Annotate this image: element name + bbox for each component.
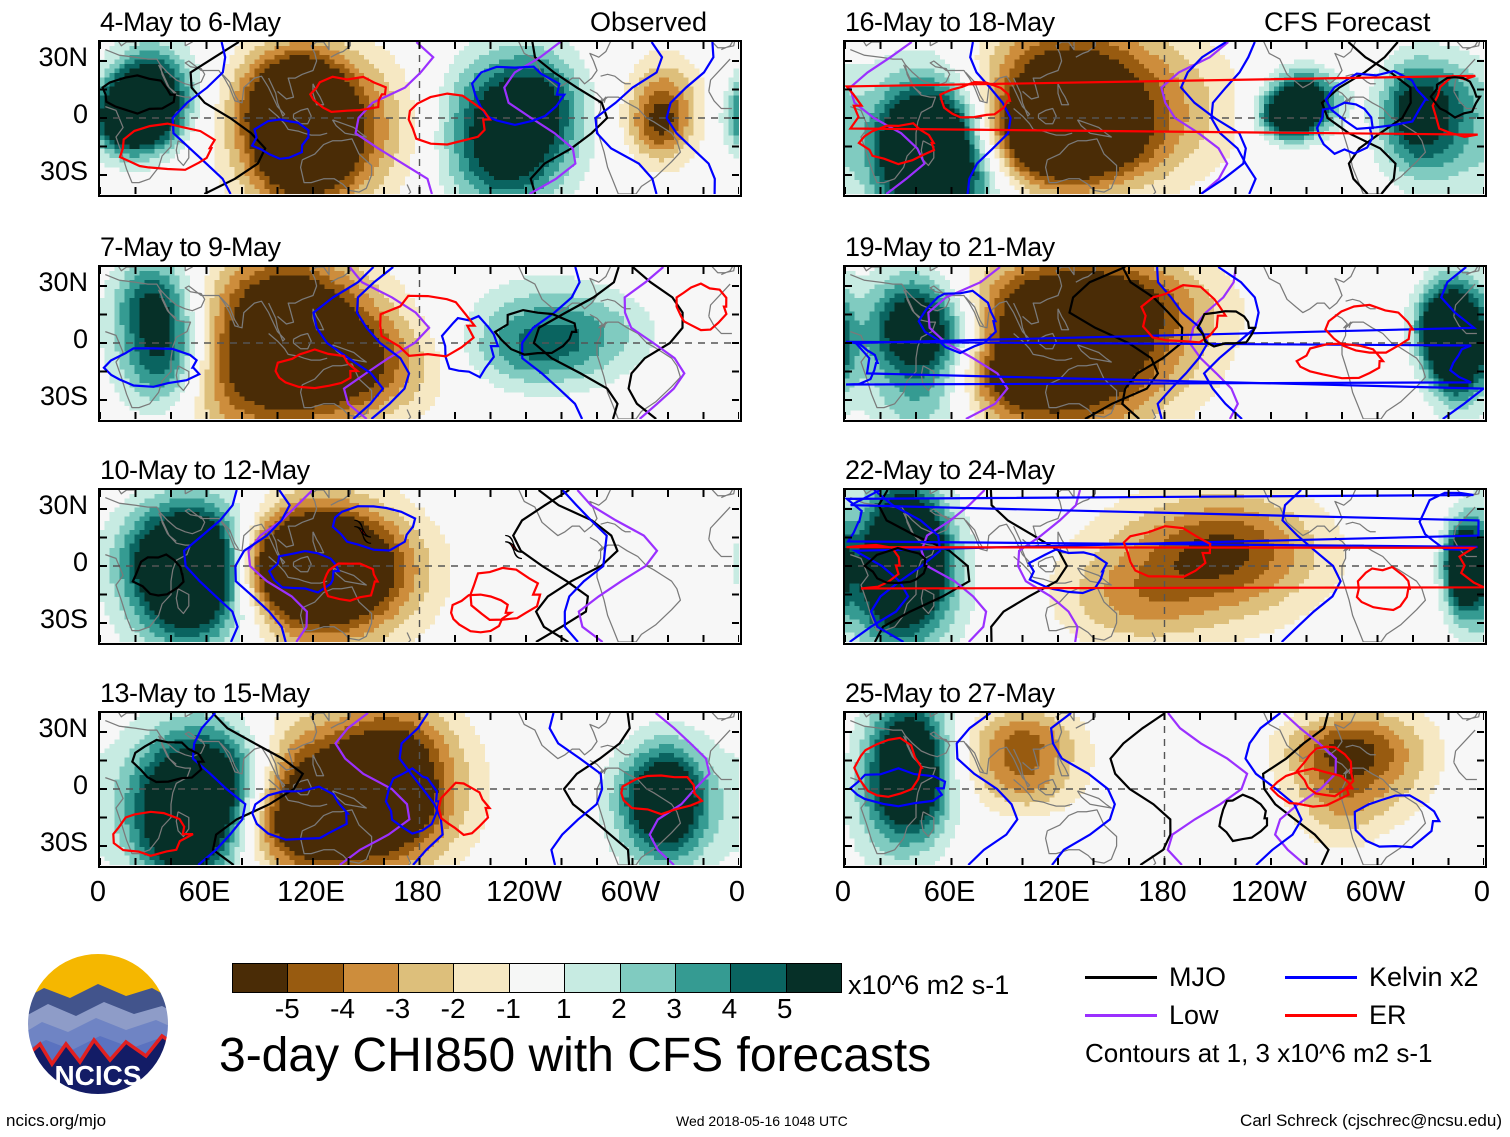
y-tick-label: 0 [0, 772, 88, 799]
x-tick-label: 120E [1011, 878, 1101, 907]
footer-url[interactable]: ncics.org/mjo [6, 1112, 106, 1129]
er-line-icon [1285, 1014, 1357, 1017]
y-tick-label: 30S [0, 606, 88, 633]
panel-title-obs-3: 10-May to 12-May [100, 457, 310, 484]
panel-title-fcst-2: 19-May to 21-May [845, 234, 1055, 261]
colorbar-tick-label: -3 [376, 995, 420, 1023]
x-tick-label: 0 [53, 878, 143, 907]
y-tick-label: 30N [0, 44, 88, 71]
x-tick-label: 180 [373, 878, 463, 907]
x-tick-label: 60E [905, 878, 995, 907]
legend-label-kelvin: Kelvin x2 [1369, 964, 1479, 991]
kelvin-line-icon [1285, 976, 1357, 979]
contour-interval-note: Contours at 1, 3 x10^6 m2 s-1 [1085, 1040, 1432, 1066]
map-panel-fcst-4[interactable] [843, 711, 1487, 868]
panel-title-obs-1: 4-May to 6-May [100, 9, 281, 36]
y-tick-label: 30S [0, 829, 88, 856]
x-tick-label: 180 [1118, 878, 1208, 907]
legend-item-mjo: MJO [1085, 964, 1285, 991]
colorbar-bin [454, 964, 509, 992]
map-panel-fcst-2[interactable] [843, 265, 1487, 422]
panel-title-obs-4: 13-May to 15-May [100, 680, 310, 707]
colorbar-bin [676, 964, 731, 992]
panel-title-fcst-4: 25-May to 27-May [845, 680, 1055, 707]
panel-title-fcst-1: 16-May to 18-May [845, 9, 1055, 36]
colorbar-tick-label: -4 [321, 995, 365, 1023]
colorbar-tick-label: 3 [652, 995, 696, 1023]
map-panel-obs-4[interactable] [98, 711, 742, 868]
footer-timestamp: Wed 2018-05-16 1048 UTC [676, 1114, 848, 1128]
y-tick-label: 30N [0, 269, 88, 296]
colorbar-bin [510, 964, 565, 992]
colorbar-bin [731, 964, 786, 992]
colorbar-tick-label: -2 [431, 995, 475, 1023]
legend-item-er: ER [1285, 1002, 1485, 1029]
y-tick-label: 30N [0, 492, 88, 519]
colorbar-strip [232, 963, 842, 993]
colorbar-bin [621, 964, 676, 992]
legend-label-er: ER [1369, 1002, 1407, 1029]
y-tick-label: 0 [0, 326, 88, 353]
ncics-logo: NCICS [22, 948, 174, 1100]
x-tick-label: 60E [160, 878, 250, 907]
colorbar-bin [288, 964, 343, 992]
colorbar-tick-label: -5 [265, 995, 309, 1023]
logo-text: NCICS [54, 1060, 141, 1091]
y-tick-label: 30N [0, 715, 88, 742]
panel-corner-label-obs-1: Observed [590, 9, 707, 36]
x-tick-label: 120W [1224, 878, 1314, 907]
contour-legend: MJO Kelvin x2 Low ER [1085, 958, 1505, 1034]
panel-title-obs-2: 7-May to 9-May [100, 234, 281, 261]
colorbar-tick-label: 1 [542, 995, 586, 1023]
map-panel-obs-2[interactable] [98, 265, 742, 422]
x-tick-label: 60W [1331, 878, 1421, 907]
map-panel-obs-1[interactable] [98, 40, 742, 197]
y-tick-label: 0 [0, 101, 88, 128]
legend-item-kelvin: Kelvin x2 [1285, 964, 1485, 991]
x-tick-label: 0 [798, 878, 888, 907]
map-panel-fcst-1[interactable] [843, 40, 1487, 197]
y-tick-label: 30S [0, 383, 88, 410]
legend-row: MJO Kelvin x2 [1085, 958, 1505, 996]
colorbar-units-label: x10^6 m2 s-1 [848, 972, 1009, 999]
footer-author: Carl Schreck (cjschrec@ncsu.edu) [1240, 1112, 1502, 1129]
colorbar-tick-label: 4 [707, 995, 751, 1023]
legend-label-mjo: MJO [1169, 964, 1226, 991]
low-line-icon [1085, 1014, 1157, 1017]
x-tick-label: 0 [692, 878, 782, 907]
x-tick-label: 120E [266, 878, 356, 907]
panel-corner-label-fcst-1: CFS Forecast [1264, 9, 1431, 36]
y-tick-label: 30S [0, 158, 88, 185]
legend-label-low: Low [1169, 1002, 1219, 1029]
map-panel-obs-3[interactable] [98, 488, 742, 645]
x-tick-label: 0 [1437, 878, 1510, 907]
legend-item-low: Low [1085, 1002, 1285, 1029]
colorbar-tick-label: -1 [486, 995, 530, 1023]
map-panel-fcst-3[interactable] [843, 488, 1487, 645]
x-tick-label: 60W [586, 878, 676, 907]
colorbar-tick-label: 5 [763, 995, 807, 1023]
colorbar-bin [565, 964, 620, 992]
colorbar-bin [233, 964, 288, 992]
colorbar-bin [399, 964, 454, 992]
figure-title: 3-day CHI850 with CFS forecasts [219, 1032, 931, 1080]
y-tick-label: 0 [0, 549, 88, 576]
mjo-line-icon [1085, 976, 1157, 979]
colorbar-tick-label: 2 [597, 995, 641, 1023]
colorbar-bin [787, 964, 841, 992]
x-tick-label: 120W [479, 878, 569, 907]
legend-row: Low ER [1085, 996, 1505, 1034]
panel-title-fcst-3: 22-May to 24-May [845, 457, 1055, 484]
colorbar-bin [344, 964, 399, 992]
colorbar: -5-4-3-2-112345 [232, 963, 842, 993]
